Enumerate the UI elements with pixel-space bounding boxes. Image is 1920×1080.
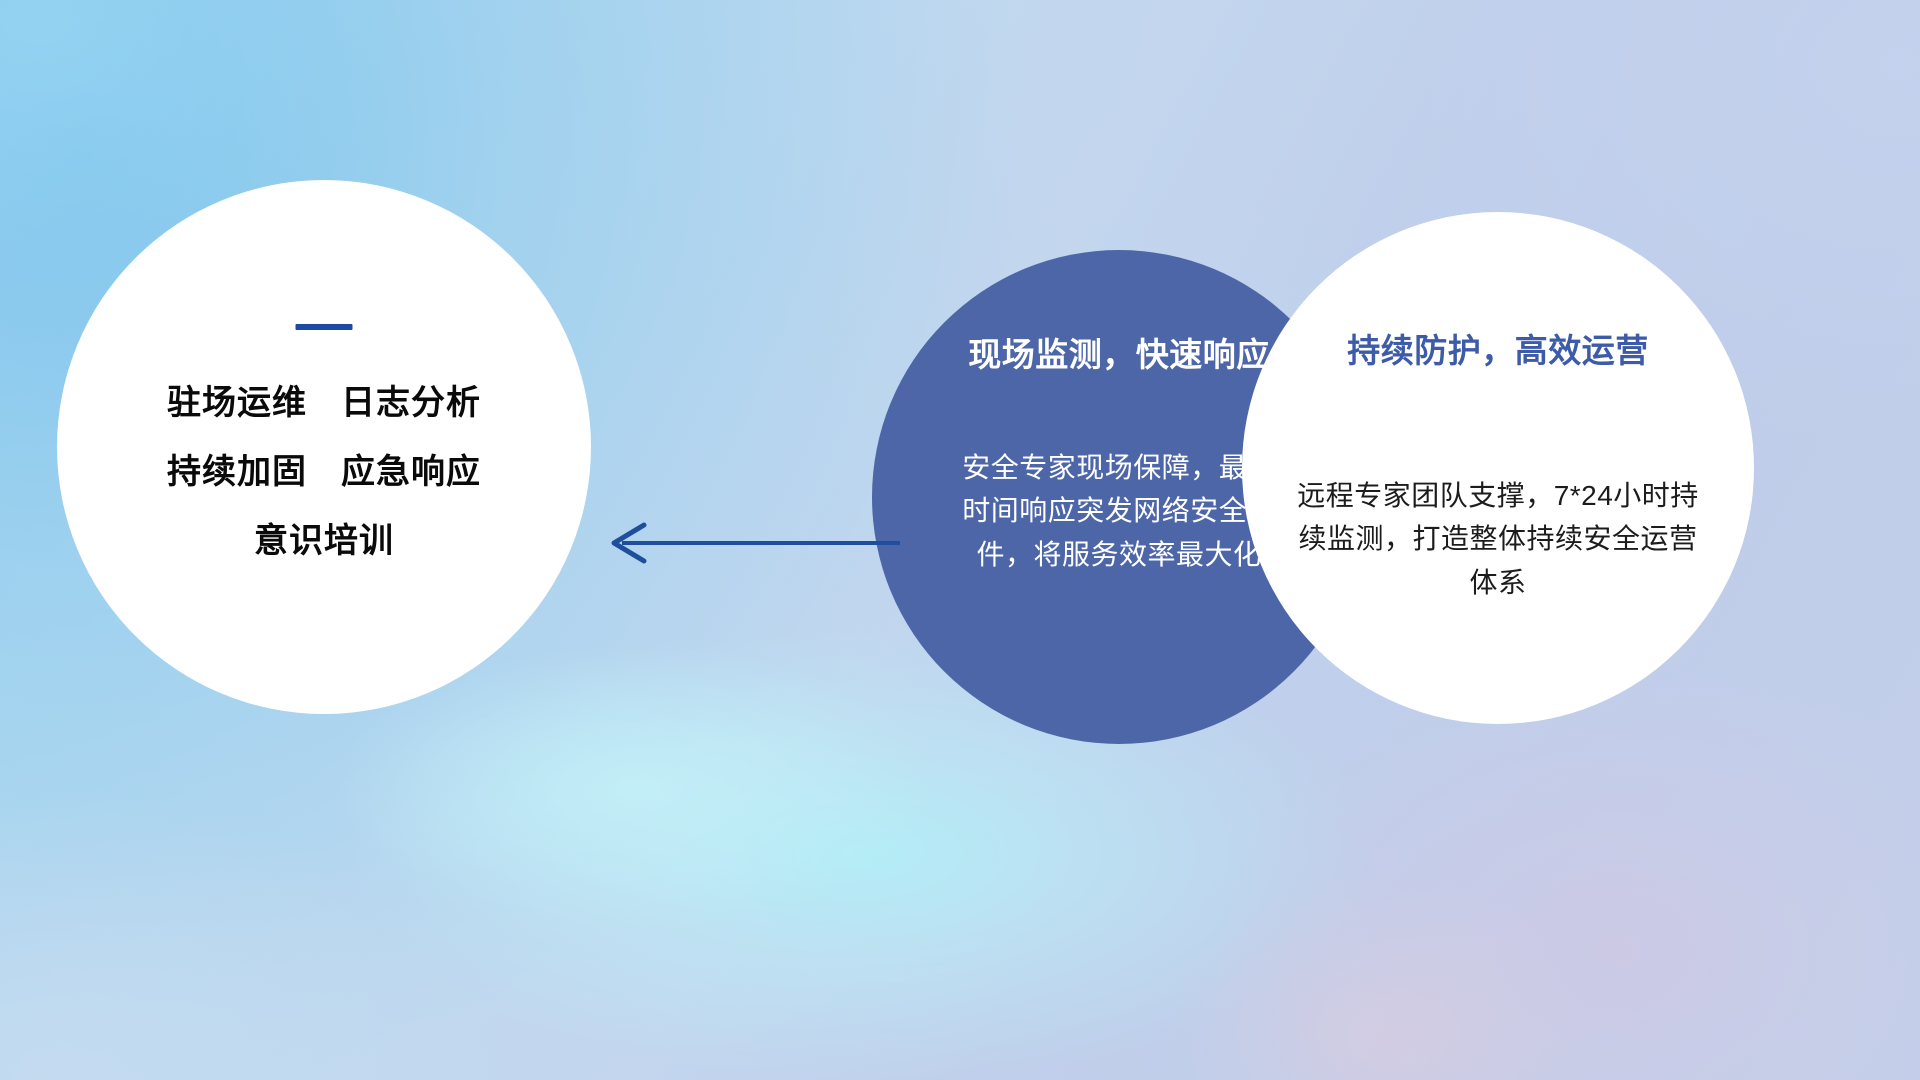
remote-circle-body: 远程专家团队支撑，7*24小时持续监测，打造整体持续安全运营体系 xyxy=(1292,474,1704,604)
skill-keyword-emergency-response: 应急响应 xyxy=(341,453,481,491)
skills-circle: 驻场运维日志分析 持续加固应急响应 意识培训 xyxy=(57,180,591,714)
skills-row-2: 持续加固应急响应 xyxy=(57,455,591,489)
skill-keyword-awareness-training: 意识培训 xyxy=(254,522,394,560)
skill-keyword-onsite-ops: 驻场运维 xyxy=(167,384,307,422)
remote-operations-circle: 持续防护，高效运营 远程专家团队支撑，7*24小时持续监测，打造整体持续安全运营… xyxy=(1242,212,1754,724)
remote-circle-title: 持续防护，高效运营 xyxy=(1242,324,1754,372)
skills-row-3: 意识培训 xyxy=(57,524,591,558)
accent-rule-divider xyxy=(296,324,353,330)
onsite-circle-body: 安全专家现场保障，最短时间响应突发网络安全事件，将服务效率最大化 xyxy=(954,446,1284,576)
flow-arrow-left-icon xyxy=(600,515,900,571)
skills-keyword-list: 驻场运维日志分析 持续加固应急响应 意识培训 xyxy=(57,386,591,558)
slide-canvas: 驻场运维日志分析 持续加固应急响应 意识培训 现场监测，快速响应 安全专家现场保… xyxy=(0,0,1920,1080)
skill-keyword-continuous-hardening: 持续加固 xyxy=(167,453,307,491)
skill-keyword-log-analysis: 日志分析 xyxy=(341,384,481,422)
skills-row-1: 驻场运维日志分析 xyxy=(57,386,591,420)
